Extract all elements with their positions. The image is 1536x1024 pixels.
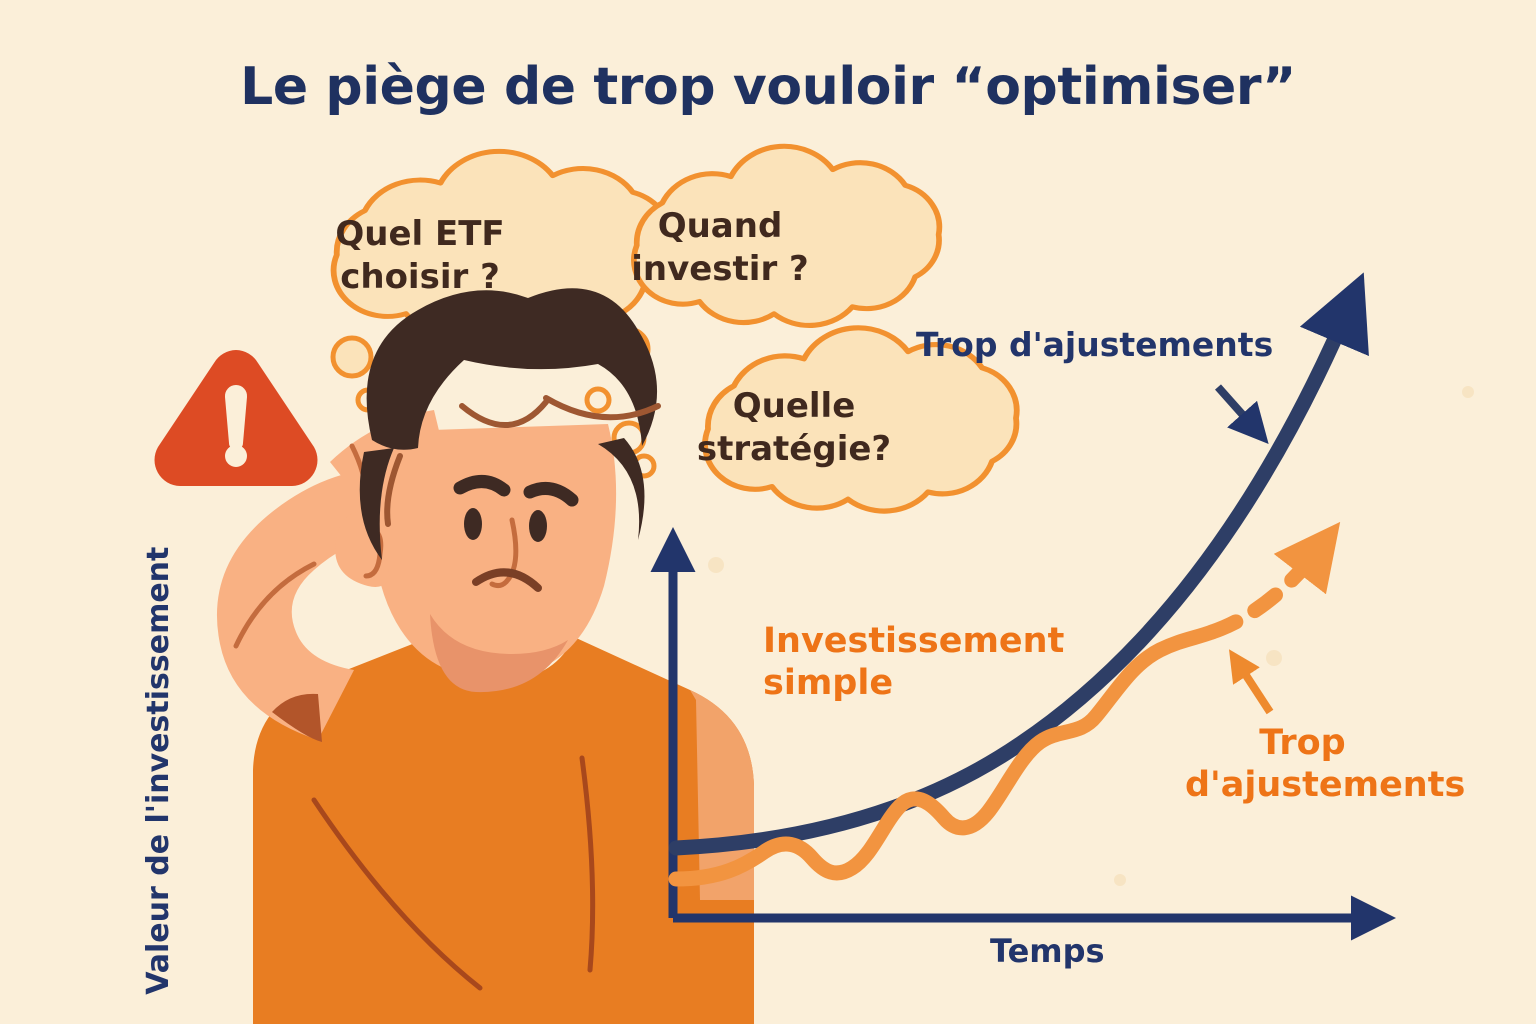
warning-triangle-icon [155,350,318,486]
annotation-arrow-navy [1218,387,1258,432]
annotation-label-adjustments-orange: Trop d'ajustements [1185,722,1420,806]
annotation-label-adjustments-navy: Trop d'ajustements [916,327,1273,364]
annotation-arrow-orange [1236,660,1270,712]
annotation-label-simple-investment: Investissement simple [763,620,1063,704]
thought-bubble-label-when: Quand investir ? [600,205,840,290]
chart-x-axis-label: Temps [990,934,1105,970]
page-title: Le piège de trop vouloir “optimiser” [0,58,1536,116]
poster-artwork [0,0,1536,1024]
chart-y-axis-label: Valeur de l'investissement [142,595,176,995]
thought-bubble-label-strategy: Quelle stratégie? [668,385,920,470]
series-too-many-adjustments [676,548,1320,879]
thought-bubble-label-etf: Quel ETF choisir ? [290,213,550,298]
infographic-poster: Le piège de trop vouloir “optimiser” Que… [0,0,1536,1024]
